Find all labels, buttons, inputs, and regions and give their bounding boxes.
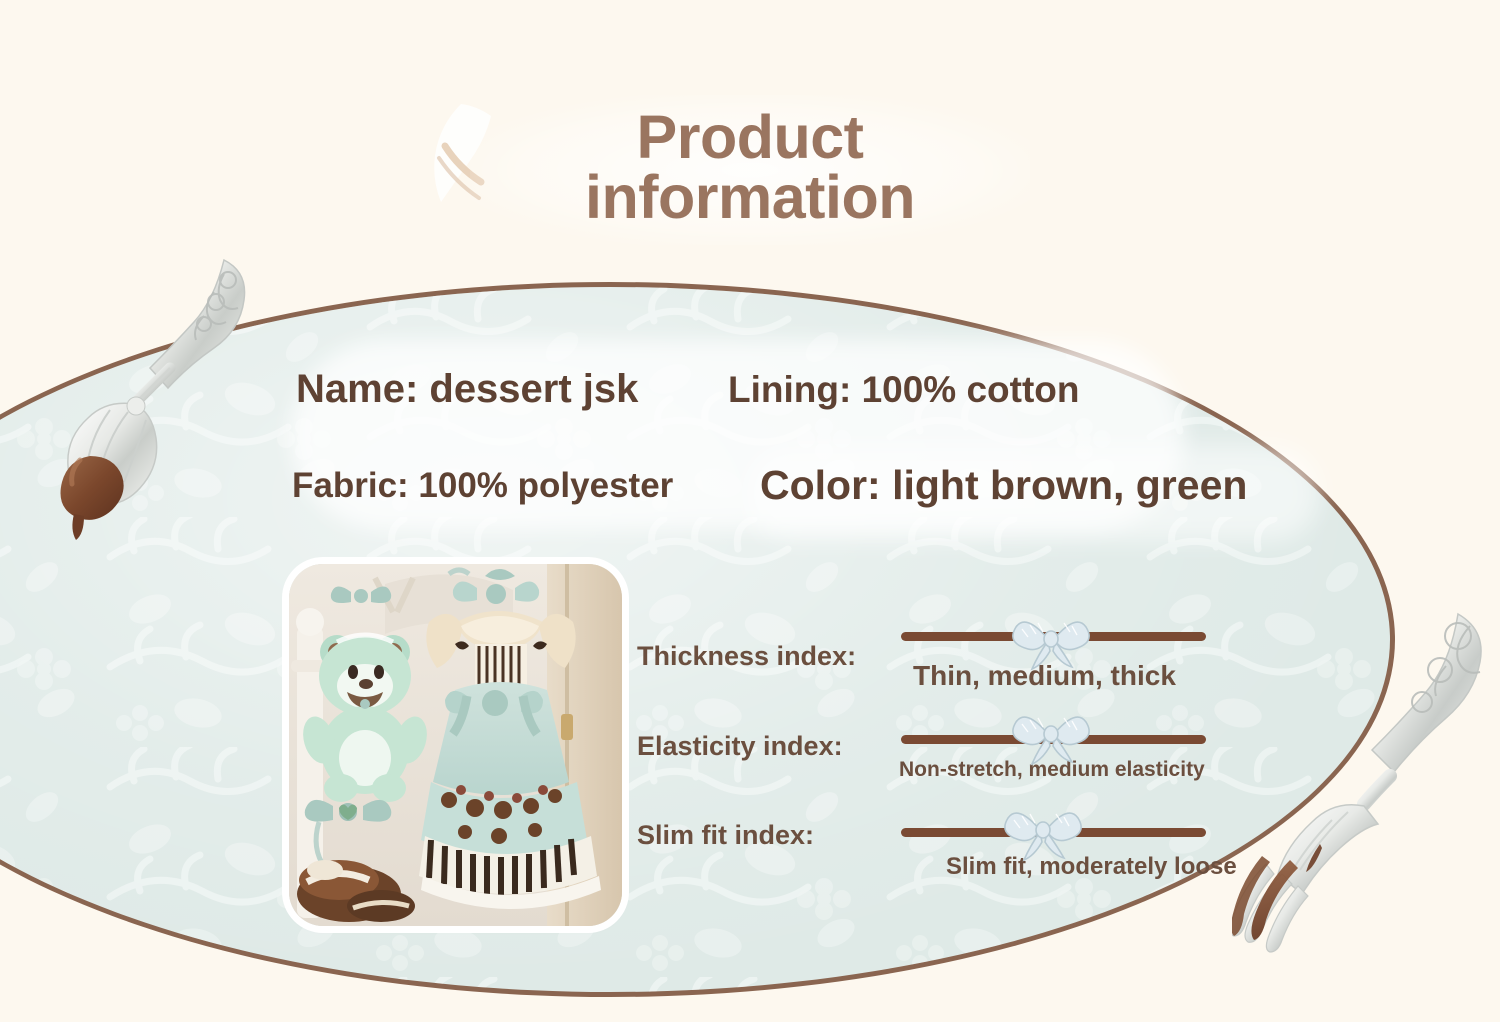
product-name-text: Name: dessert jsk <box>296 367 638 412</box>
index-bar-thickness <box>901 632 1206 641</box>
product-photo-illustration <box>289 564 622 926</box>
product-fabric-text: Fabric: 100% polyester <box>292 466 673 506</box>
index-value-thickness: Thin, medium, thick <box>913 660 1176 692</box>
title-line-2: information <box>585 168 915 228</box>
title-line-1: Product <box>637 108 864 168</box>
product-photo[interactable] <box>289 564 622 926</box>
index-bar-slim-fit <box>901 828 1206 837</box>
product-information-graphic: Product information Name: dessert jsk Li… <box>0 0 1500 1022</box>
index-value-slim-fit: Slim fit, moderately loose <box>946 853 1237 881</box>
index-label-thickness: Thickness index: <box>637 641 856 672</box>
index-bar-elasticity <box>901 735 1206 744</box>
product-lining-text: Lining: 100% cotton <box>728 369 1080 411</box>
index-label-elasticity: Elasticity index: <box>637 731 843 762</box>
product-color-text: Color: light brown, green <box>760 462 1247 509</box>
index-label-slim-fit: Slim fit index: <box>637 820 814 851</box>
index-value-elasticity: Non-stretch, medium elasticity <box>899 758 1205 782</box>
page-title: Product information <box>455 100 1045 235</box>
